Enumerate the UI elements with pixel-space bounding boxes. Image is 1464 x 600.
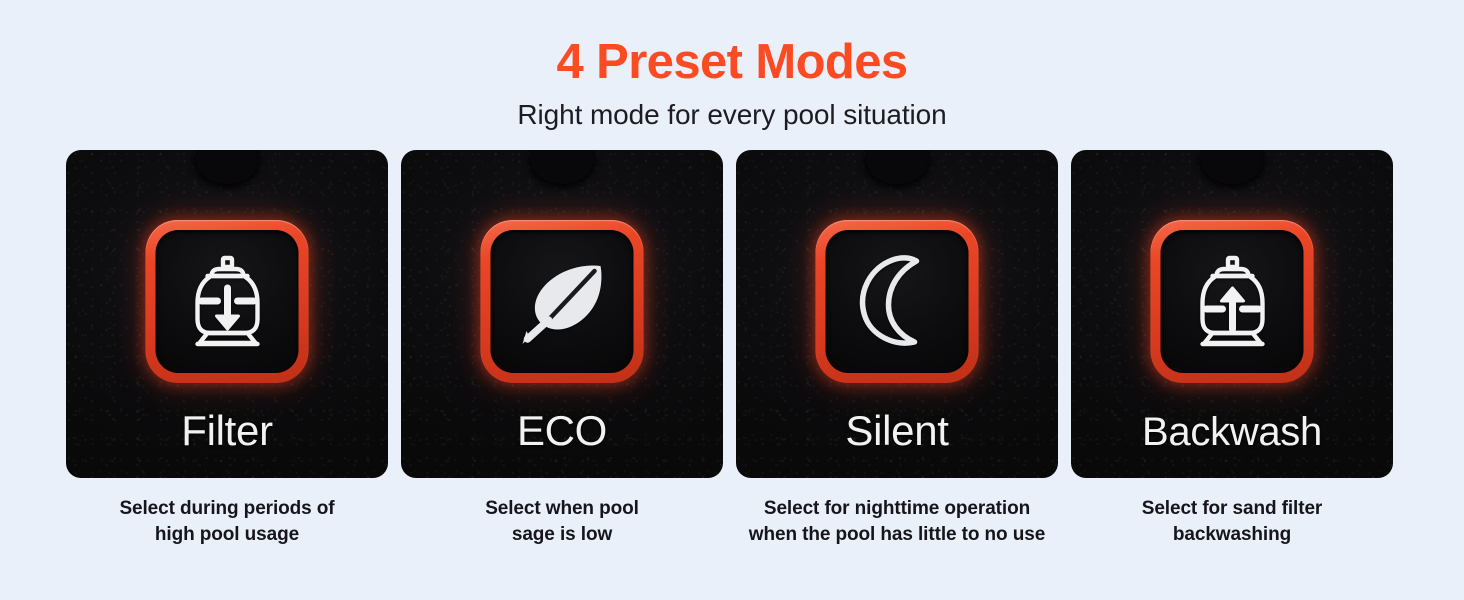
- mode-caption-eco: Select when pool sage is low: [401, 496, 723, 547]
- caption-line-1: Select for sand filter: [1071, 496, 1393, 522]
- page-subtitle: Right mode for every pool situation: [0, 99, 1464, 131]
- filter-tank-down-arrow-icon: [146, 220, 309, 383]
- mode-caption-filter: Select during periods of high pool usage: [66, 496, 388, 547]
- crescent-moon-icon: [816, 220, 979, 383]
- mode-column-filter: Filter Select during periods of high poo…: [66, 150, 388, 547]
- card-top-notch: [1201, 150, 1263, 184]
- mode-label-eco: ECO: [401, 407, 723, 455]
- preset-modes-infographic: 4 Preset Modes Right mode for every pool…: [0, 0, 1464, 600]
- mode-button-silent[interactable]: [816, 220, 979, 383]
- mode-caption-backwash: Select for sand filter backwashing: [1071, 496, 1393, 547]
- mode-caption-silent: Select for nighttime operation when the …: [736, 496, 1058, 547]
- mode-label-filter: Filter: [66, 407, 388, 455]
- caption-line-2: high pool usage: [66, 522, 388, 548]
- mode-column-backwash: Backwash Select for sand filter backwash…: [1071, 150, 1393, 547]
- mode-card-backwash[interactable]: Backwash: [1071, 150, 1393, 478]
- caption-line-1: Select during periods of: [66, 496, 388, 522]
- mode-column-eco: ECO Select when pool sage is low: [401, 150, 723, 547]
- caption-line-1: Select when pool: [401, 496, 723, 522]
- mode-label-silent: Silent: [736, 407, 1058, 455]
- caption-line-2: sage is low: [401, 522, 723, 548]
- mode-button-eco[interactable]: [481, 220, 644, 383]
- header: 4 Preset Modes Right mode for every pool…: [0, 0, 1464, 131]
- caption-line-2: backwashing: [1071, 522, 1393, 548]
- mode-label-backwash: Backwash: [1071, 410, 1393, 455]
- mode-card-filter[interactable]: Filter: [66, 150, 388, 478]
- page-title: 4 Preset Modes: [0, 36, 1464, 89]
- caption-line-2: when the pool has little to no use: [736, 522, 1058, 548]
- mode-card-silent[interactable]: Silent: [736, 150, 1058, 478]
- mode-button-filter[interactable]: [146, 220, 309, 383]
- mode-column-silent: Silent Select for nighttime operation wh…: [736, 150, 1058, 547]
- caption-line-1: Select for nighttime operation: [736, 496, 1058, 522]
- mode-button-backwash[interactable]: [1151, 220, 1314, 383]
- leaf-icon: [481, 220, 644, 383]
- mode-card-row: Filter Select during periods of high poo…: [66, 150, 1398, 547]
- mode-card-eco[interactable]: ECO: [401, 150, 723, 478]
- card-top-notch: [196, 150, 258, 184]
- filter-tank-up-arrow-icon: [1151, 220, 1314, 383]
- card-top-notch: [531, 150, 593, 184]
- card-top-notch: [866, 150, 928, 184]
